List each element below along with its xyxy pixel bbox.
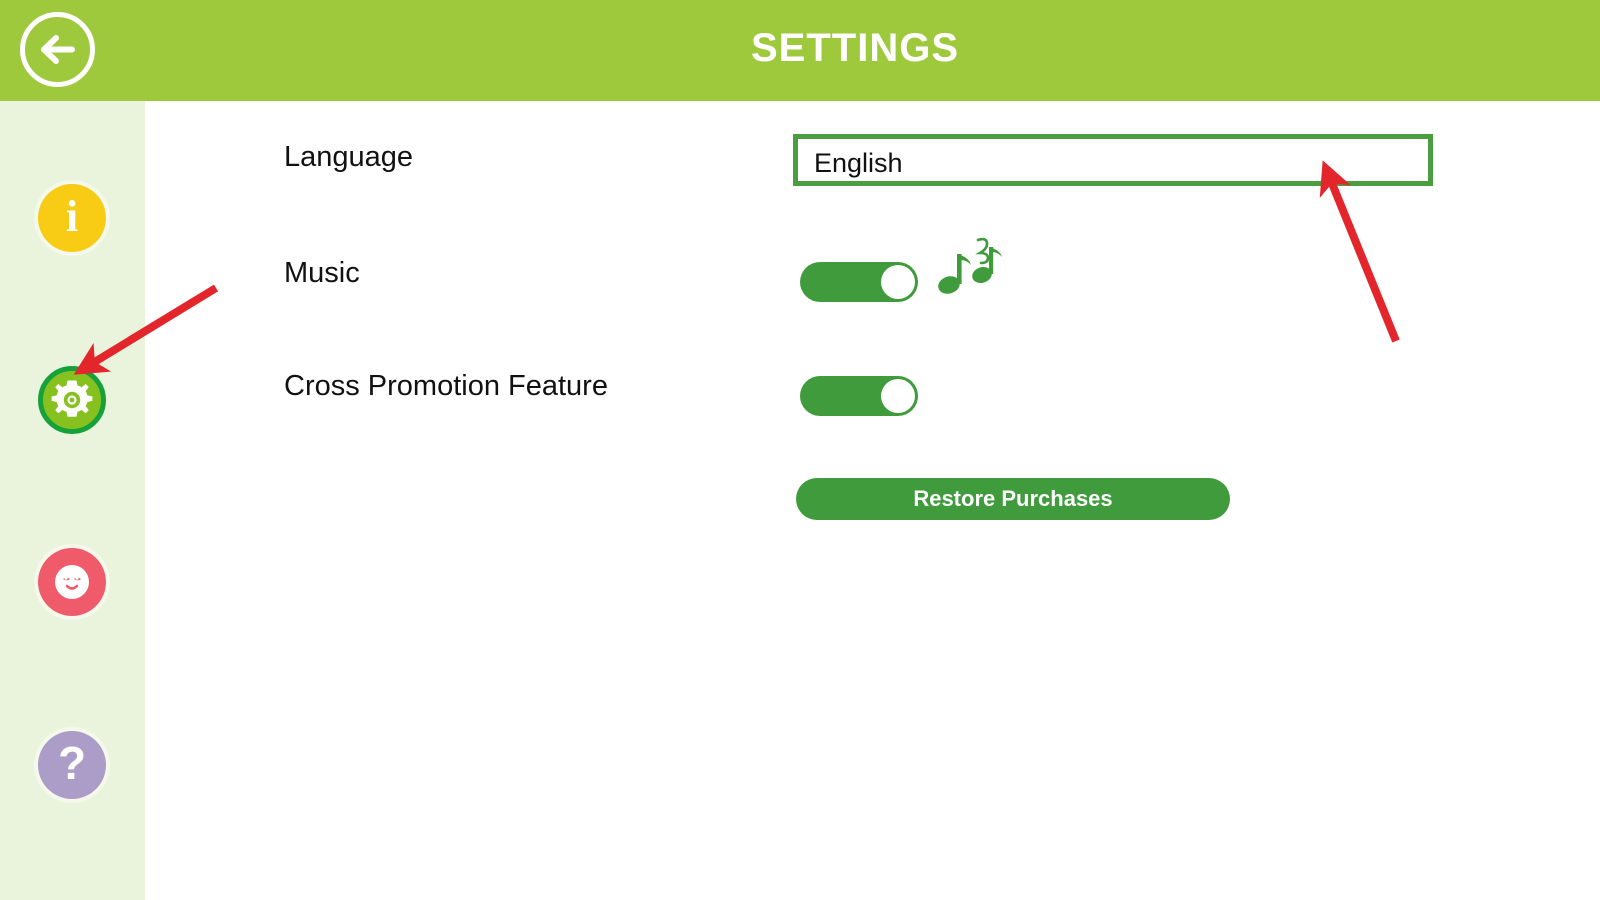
question-mark-icon: ?: [58, 740, 86, 786]
language-select[interactable]: English: [793, 134, 1433, 186]
cross-promotion-toggle-knob: [881, 379, 915, 413]
sidebar-item-faces[interactable]: [38, 548, 106, 616]
settings-panel: Language English Music Cross Promotion F…: [145, 101, 1600, 900]
music-toggle[interactable]: [800, 262, 918, 302]
language-value: English: [814, 148, 903, 179]
smiley-face-icon: [50, 560, 94, 604]
sidebar-item-help[interactable]: ?: [38, 731, 106, 799]
cross-promotion-label: Cross Promotion Feature: [284, 370, 608, 403]
music-notes-icon: [935, 237, 1005, 299]
restore-purchases-button[interactable]: Restore Purchases: [796, 478, 1230, 520]
sidebar-item-info[interactable]: i: [38, 184, 106, 252]
info-icon: i: [66, 195, 78, 239]
app-header: SETTINGS: [0, 0, 1600, 101]
gear-icon: [49, 377, 95, 423]
music-label: Music: [284, 257, 360, 290]
sidebar: i ?: [0, 101, 145, 900]
page-title: SETTINGS: [0, 26, 1600, 71]
language-label: Language: [284, 141, 413, 174]
sidebar-item-settings[interactable]: [38, 366, 106, 434]
music-toggle-knob: [881, 265, 915, 299]
cross-promotion-toggle[interactable]: [800, 376, 918, 416]
